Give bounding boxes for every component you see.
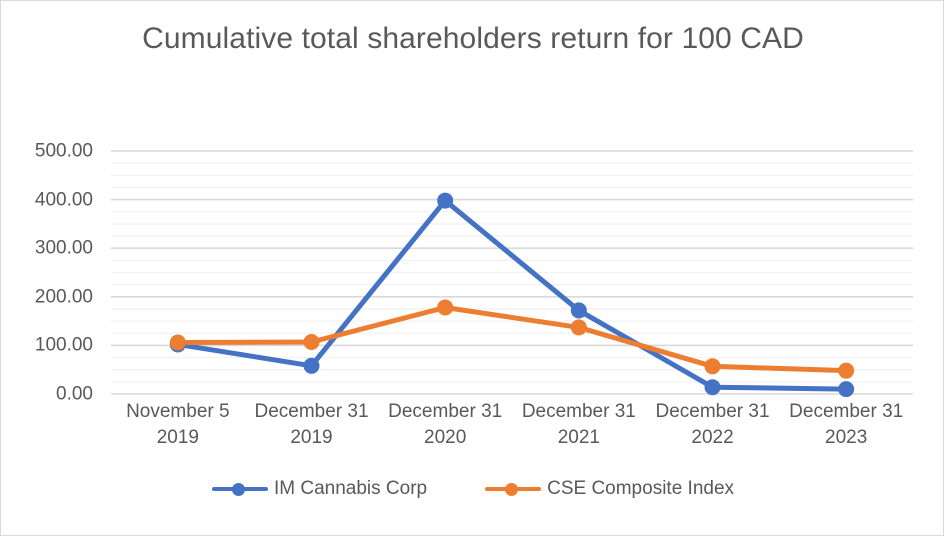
x-axis-tick-label-date: December 31 <box>512 399 646 425</box>
data-point-marker <box>571 319 587 335</box>
x-axis-tick-label-year: 2019 <box>111 425 245 451</box>
legend-entry[interactable]: IM Cannabis Corp <box>212 479 427 498</box>
x-axis-tick-label-year: 2020 <box>378 425 512 451</box>
x-axis-tick-label-date: December 31 <box>646 399 780 425</box>
legend-label: CSE Composite Index <box>547 479 734 498</box>
x-axis-tick-label-year: 2023 <box>779 425 913 451</box>
chart-container: Cumulative total shareholders return for… <box>0 0 944 536</box>
y-axis-tick-label: 0.00 <box>56 385 93 404</box>
x-axis-tick-label: December 312020 <box>378 399 512 455</box>
legend-label: IM Cannabis Corp <box>274 479 427 498</box>
data-point-marker <box>838 381 854 397</box>
legend-marker-icon <box>212 480 268 498</box>
chart-legend: IM Cannabis CorpCSE Composite Index <box>1 479 944 498</box>
x-axis-tick-label-year: 2021 <box>512 425 646 451</box>
series-layer <box>111 151 913 394</box>
legend-entry[interactable]: CSE Composite Index <box>485 479 734 498</box>
y-axis-tick-label: 500.00 <box>35 142 93 161</box>
data-point-marker <box>170 334 186 350</box>
x-axis-tick-label-year: 2022 <box>646 425 780 451</box>
data-point-marker <box>705 379 721 395</box>
legend-marker-icon <box>485 480 541 498</box>
data-point-marker <box>304 358 320 374</box>
x-axis-tick-label-date: December 31 <box>245 399 379 425</box>
data-point-marker <box>437 193 453 209</box>
chart-title-line-2: CAD <box>740 22 804 55</box>
x-axis-tick-label-date: November 5 <box>111 399 245 425</box>
x-axis-tick-label-year: 2019 <box>245 425 379 451</box>
data-point-marker <box>705 358 721 374</box>
x-axis: November 52019December 312019December 31… <box>111 399 913 455</box>
data-point-marker <box>304 334 320 350</box>
series-line <box>178 201 846 390</box>
x-axis-tick-label-date: December 31 <box>378 399 512 425</box>
x-axis-tick-label: December 312022 <box>646 399 780 455</box>
y-axis-tick-label: 100.00 <box>35 336 93 355</box>
chart-title: Cumulative total shareholders return for… <box>121 17 825 61</box>
x-axis-tick-label: December 312021 <box>512 399 646 455</box>
chart-title-line-1: Cumulative total shareholders return for… <box>142 22 732 55</box>
x-axis-tick-label: December 312019 <box>245 399 379 455</box>
plot-area <box>111 151 913 394</box>
y-axis-tick-label: 400.00 <box>35 190 93 209</box>
y-axis: 0.00100.00200.00300.00400.00500.00 <box>1 151 101 394</box>
data-point-marker <box>838 363 854 379</box>
y-axis-tick-label: 300.00 <box>35 239 93 258</box>
x-axis-tick-label: November 52019 <box>111 399 245 455</box>
y-axis-tick-label: 200.00 <box>35 287 93 306</box>
x-axis-tick-label-date: December 31 <box>779 399 913 425</box>
data-point-marker <box>571 302 587 318</box>
data-point-marker <box>437 299 453 315</box>
x-axis-tick-label: December 312023 <box>779 399 913 455</box>
